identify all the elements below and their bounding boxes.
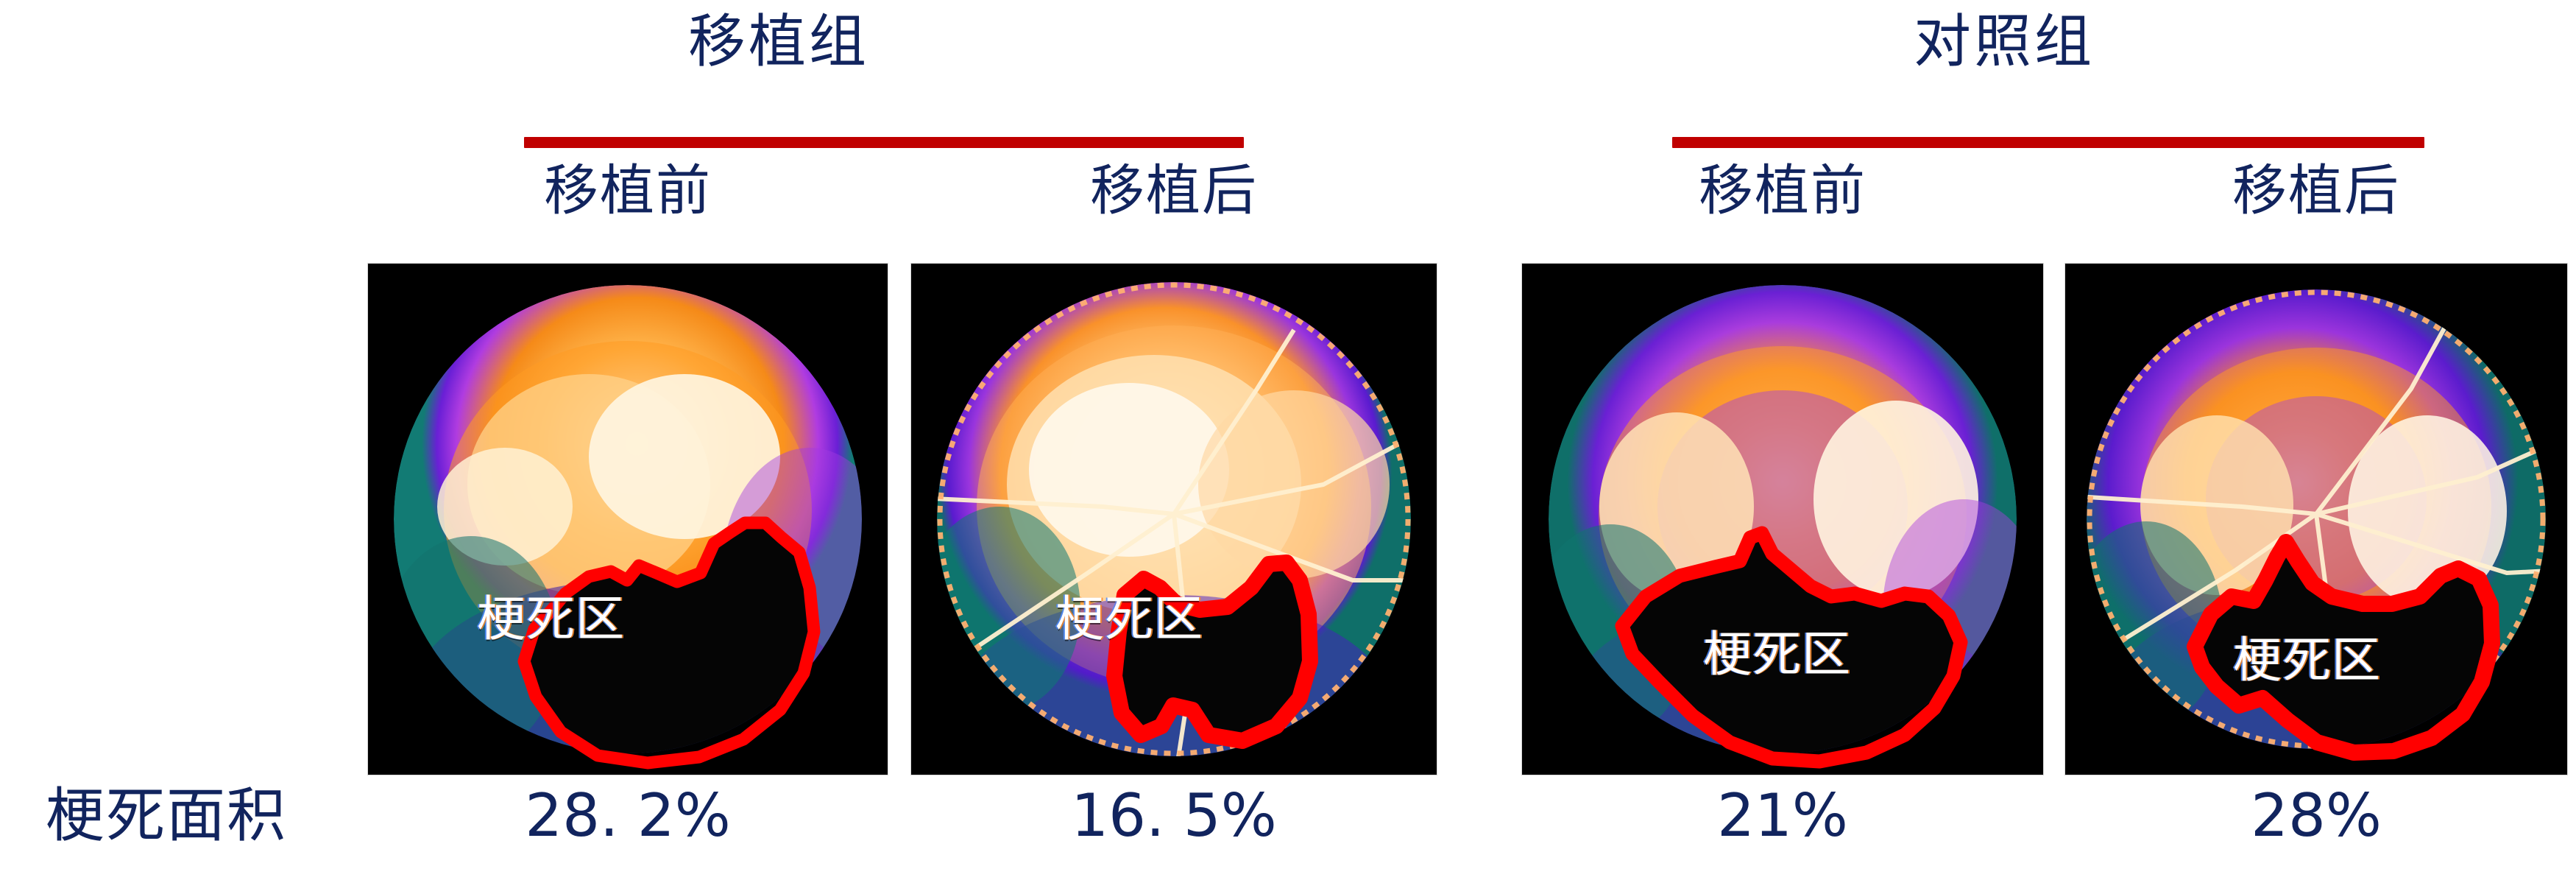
spect-panel-transplant-pre[interactable]: 梗死区 — [368, 264, 888, 775]
panel-title-control-pre: 移植前 — [1522, 163, 2043, 218]
infarct-percent-control-post: 28% — [2065, 786, 2567, 845]
spect-panel-control-pre[interactable]: 梗死区 — [1522, 264, 2043, 775]
spect-panel-transplant-post[interactable]: 梗死区 — [911, 264, 1437, 775]
polar-map-4 — [2065, 264, 2567, 775]
panel-title-control-post: 移植后 — [2065, 163, 2567, 218]
infarct-percent-control-pre: 21% — [1522, 786, 2043, 845]
group-rule-control — [1672, 137, 2424, 148]
polar-map-2 — [911, 264, 1437, 775]
group-rule-transplant — [524, 137, 1244, 148]
infarct-percent-transplant-pre: 28. 2% — [368, 786, 888, 845]
group-title-transplant: 移植组 — [688, 13, 869, 71]
group-title-control: 对照组 — [1914, 13, 2095, 71]
infarct-percent-transplant-post: 16. 5% — [911, 786, 1437, 845]
polar-map-1 — [368, 264, 888, 775]
row-label-infarct-area: 梗死面积 — [46, 786, 287, 845]
panel-title-transplant-post: 移植后 — [911, 163, 1437, 218]
spect-panel-control-post[interactable]: 梗死区 — [2065, 264, 2567, 775]
panel-title-transplant-pre: 移植前 — [368, 163, 888, 218]
spect-figure: 移植组 对照组 移植前 移植后 移植前 移植后 — [0, 0, 2576, 880]
polar-map-3 — [1522, 264, 2043, 775]
